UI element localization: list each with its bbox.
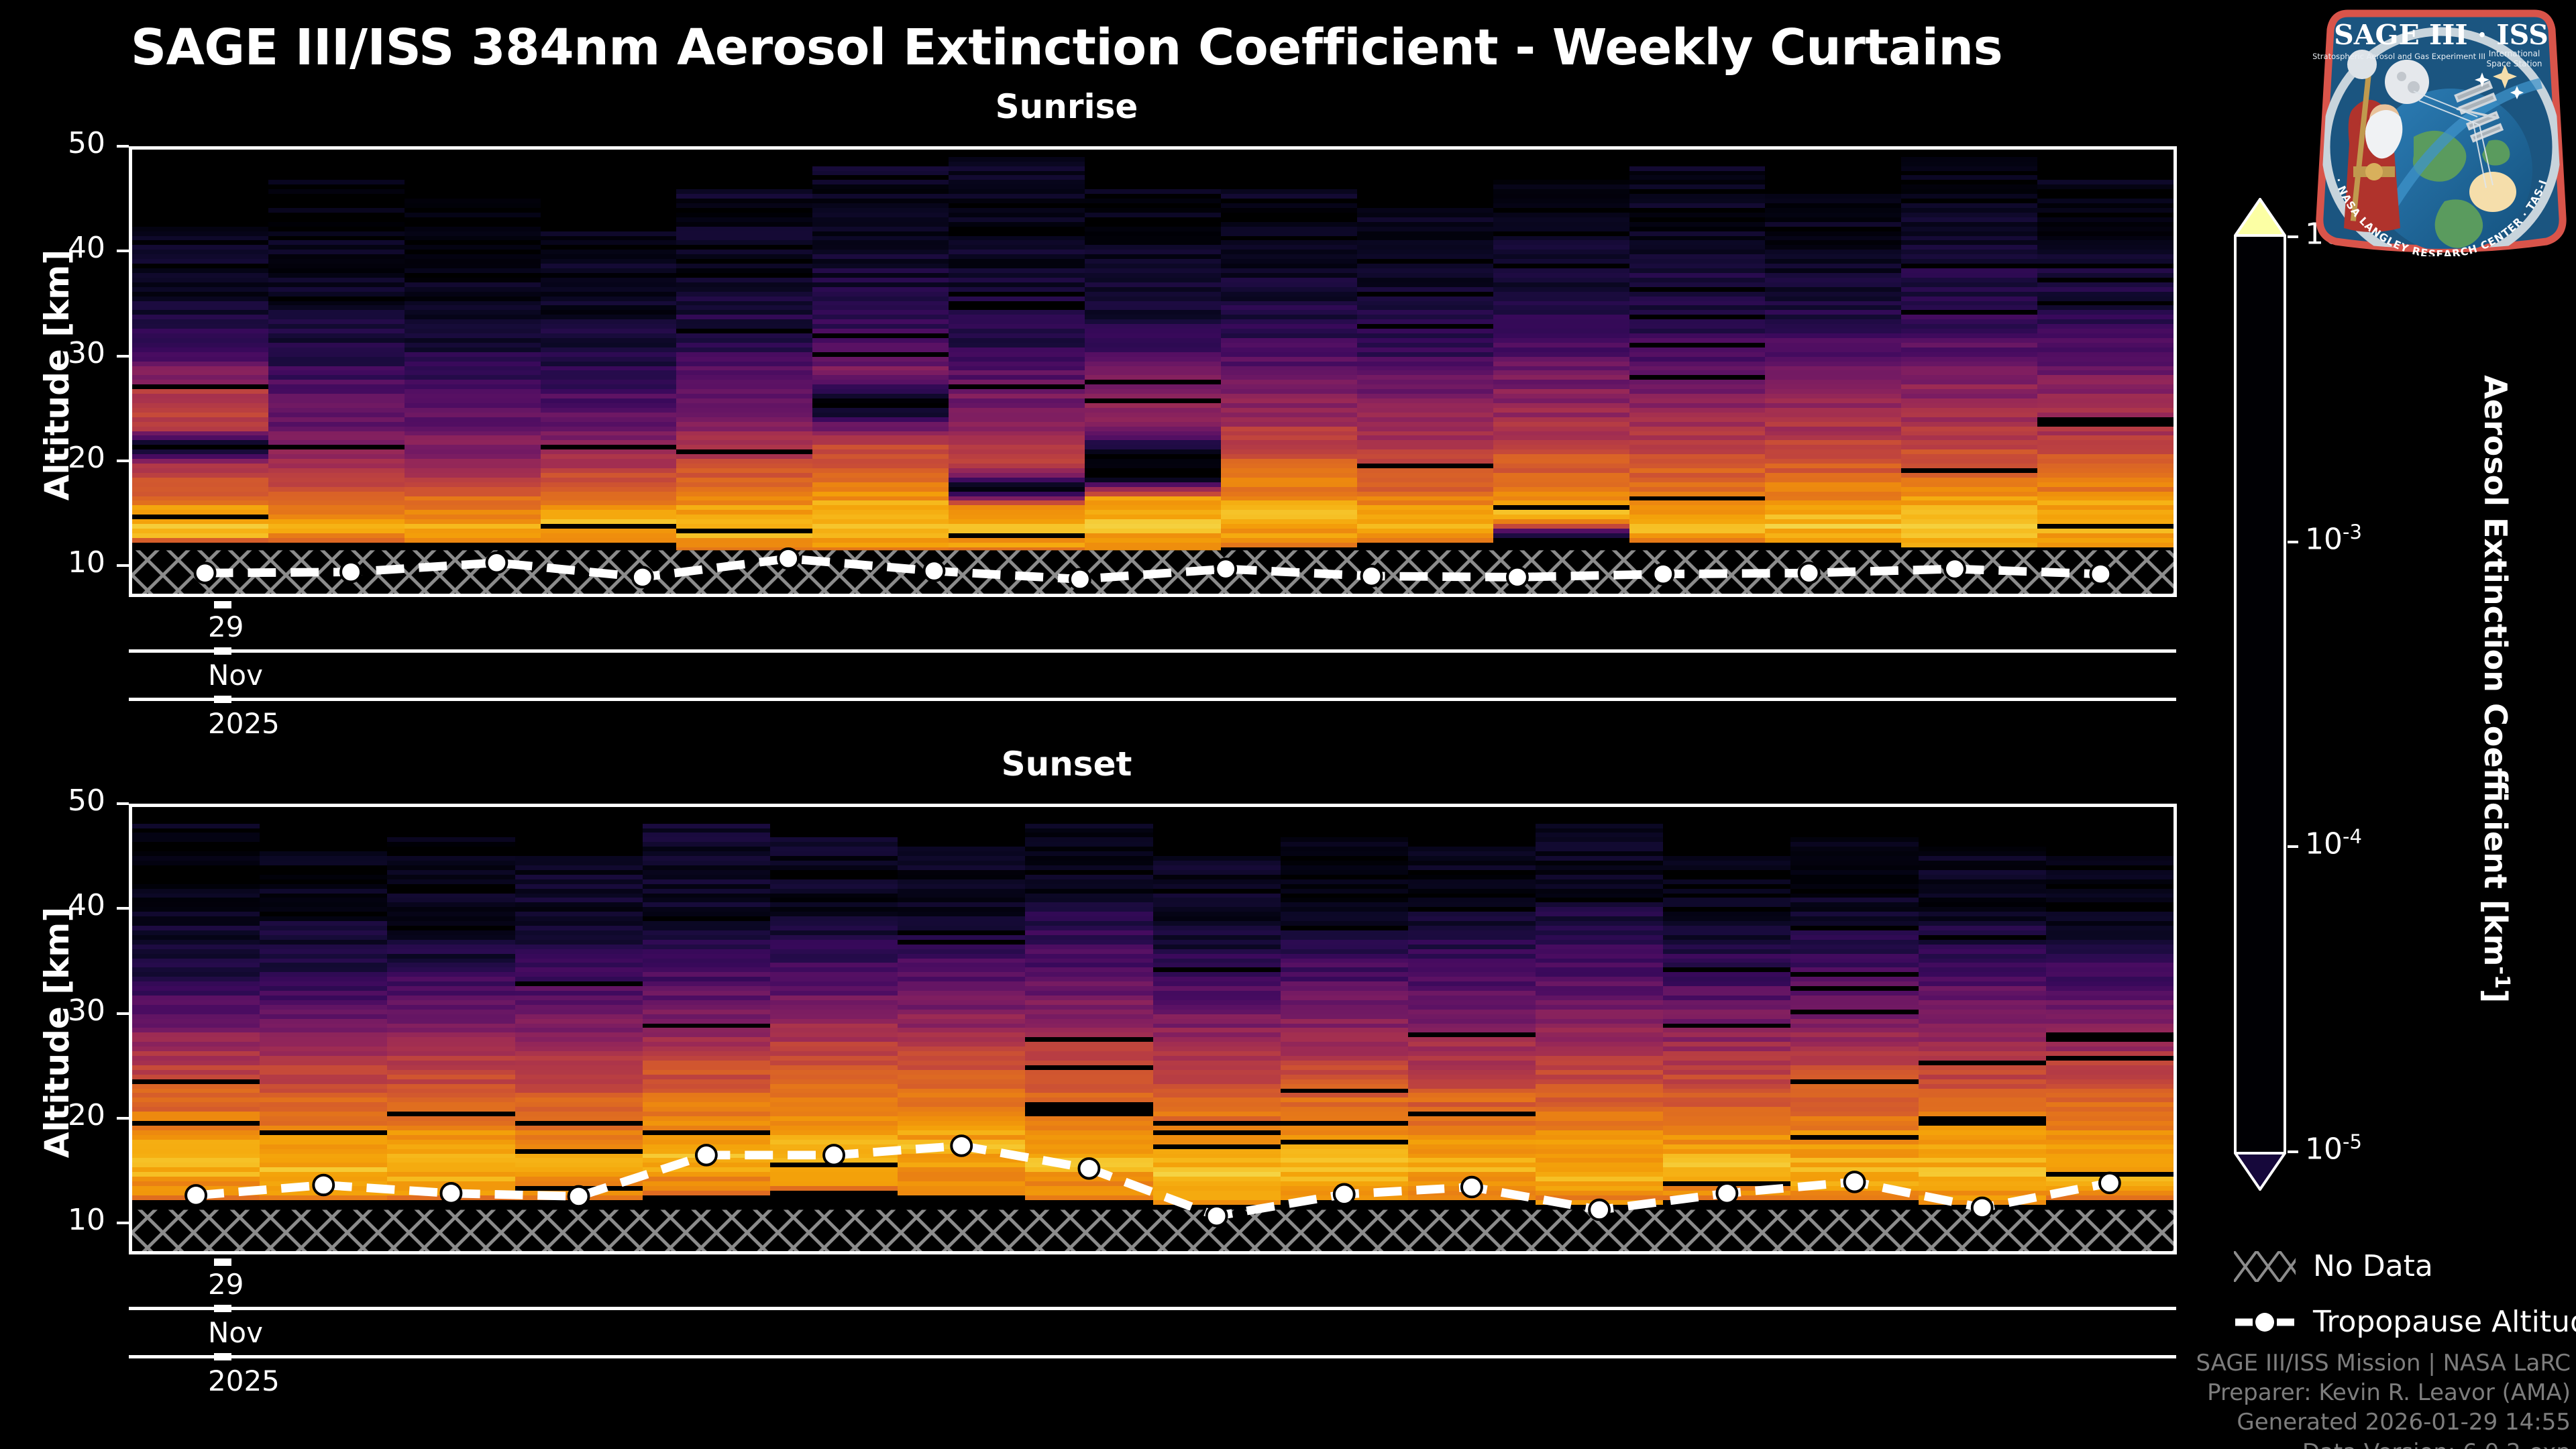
legend-item-no-data[interactable]: No Data — [2234, 1249, 2433, 1283]
tropopause-marker — [633, 568, 653, 588]
y-tick-label: 40 — [11, 888, 105, 922]
tropopause-marker — [1653, 564, 1673, 584]
date-axis-label-day: 29 — [208, 1268, 244, 1301]
footer-line-preparer: Preparer: Kevin R. Leavor (AMA) — [2196, 1378, 2571, 1407]
y-tick-mark — [117, 460, 129, 462]
date-axis-label-month: Nov — [208, 1316, 263, 1349]
tropopause-marker — [1799, 563, 1819, 583]
y-tick-mark — [117, 1012, 129, 1015]
colorbar[interactable] — [2234, 198, 2286, 1191]
y-tick-mark — [117, 1222, 129, 1224]
tropopause-marker — [341, 562, 361, 582]
tropopause-marker — [186, 1185, 206, 1205]
y-tick-label: 20 — [11, 1098, 105, 1132]
sunrise-tropopause-line — [132, 150, 2173, 594]
patch-subtitle-right-2: Space Station — [2486, 59, 2542, 68]
colorbar-extend-bottom — [2234, 1152, 2286, 1191]
panel-sunrise — [129, 146, 2177, 597]
y-tick-label: 10 — [11, 1203, 105, 1237]
sage-iii-iss-mission-patch-logo: SAGE III · ISS Stratospheric Aerosol and… — [2313, 3, 2569, 256]
date-axis-tick-month — [214, 647, 231, 655]
legend-item-tropopause[interactable]: Tropopause Altitude — [2234, 1305, 2576, 1339]
colorbar-title-tail: ] — [2477, 989, 2514, 1003]
colorbar-title: Aerosol Extinction Coefficient [km-1] — [2477, 320, 2514, 1058]
date-axis-label-day: 29 — [208, 610, 244, 643]
date-axis-label-year: 2025 — [208, 707, 280, 740]
tropopause-marker — [1507, 568, 1527, 588]
y-tick-mark — [117, 907, 129, 910]
patch-subtitle-right-1: International — [2489, 49, 2540, 58]
y-tick-mark — [117, 564, 129, 567]
date-axis-rule-month — [129, 1307, 2176, 1310]
tropopause-path — [196, 1146, 2110, 1216]
footer-line-mission: SAGE III/ISS Mission | NASA LaRC — [2196, 1348, 2571, 1378]
tropopause-marker — [1362, 566, 1382, 586]
date-axis-tick-year — [214, 696, 231, 703]
sunrise-plot-frame[interactable] — [129, 146, 2177, 597]
colorbar-tick-label-2: 10-4 — [2305, 825, 2362, 861]
sunset-panel-title: Sunset — [0, 745, 2133, 784]
tropopause-marker — [1216, 559, 1236, 579]
tropopause-line-swatch — [2234, 1307, 2296, 1338]
date-axis-rule-month — [129, 649, 2176, 653]
date-axis-tick-month — [214, 1305, 231, 1312]
footer-line-generated: Generated 2026-01-29 14:55 — [2196, 1407, 2571, 1437]
tropopause-marker — [195, 563, 215, 583]
patch-title-text: SAGE III · ISS — [2334, 19, 2548, 51]
tropopause-marker — [313, 1175, 333, 1195]
legend-label-no-data: No Data — [2313, 1249, 2433, 1283]
date-axis-tick-year — [214, 1353, 231, 1360]
y-tick-mark — [117, 355, 129, 358]
y-tick-mark — [117, 250, 129, 252]
tropopause-marker — [824, 1145, 844, 1165]
no-data-hatch-swatch — [2234, 1251, 2296, 1282]
y-tick-mark — [117, 1117, 129, 1120]
y-tick-label: 50 — [11, 784, 105, 818]
sunrise-panel-title: Sunrise — [0, 87, 2133, 126]
date-axis-rule-year — [129, 1355, 2176, 1358]
page-title: SAGE III/ISS 384nm Aerosol Extinction Co… — [0, 19, 2133, 76]
colorbar-title-exponent: -1 — [2490, 966, 2514, 989]
y-tick-label: 50 — [11, 126, 105, 160]
colorbar-tick-mark-1 — [2288, 541, 2298, 543]
date-axis-label-month: Nov — [208, 659, 263, 692]
y-tick-mark — [117, 802, 129, 805]
colorbar-title-text: Aerosol Extinction Coefficient [km — [2477, 375, 2514, 966]
tropopause-marker — [696, 1145, 716, 1165]
figure-root: SAGE III/ISS 384nm Aerosol Extinction Co… — [0, 0, 2576, 1449]
date-axis-tick-day — [214, 1258, 231, 1266]
date-axis-rule-year — [129, 698, 2176, 701]
tropopause-marker — [778, 549, 798, 569]
tropopause-marker — [2090, 564, 2110, 584]
y-tick-label: 30 — [11, 336, 105, 370]
colorbar-tick-label-1: 10-3 — [2305, 521, 2362, 557]
date-axis-tick-day — [214, 601, 231, 608]
panel-sunset — [129, 804, 2177, 1254]
tropopause-marker — [441, 1183, 461, 1203]
footer-credits: SAGE III/ISS Mission | NASA LaRC Prepare… — [2196, 1348, 2571, 1449]
colorbar-tick-mark-0 — [2288, 235, 2298, 238]
y-tick-mark — [117, 145, 129, 148]
y-tick-label: 30 — [11, 994, 105, 1028]
footer-line-version: Data Version: 6.0.2-exp — [2196, 1438, 2571, 1449]
colorbar-gradient — [2234, 237, 2286, 1152]
colorbar-extend-top — [2234, 198, 2286, 237]
colorbar-tick-mark-3 — [2288, 1150, 2298, 1153]
sunset-tropopause-line — [132, 807, 2173, 1251]
date-axis-label-year: 2025 — [208, 1364, 280, 1397]
tropopause-marker — [1070, 570, 1090, 590]
tropopause-marker — [951, 1136, 971, 1156]
colorbar-tick-mark-2 — [2288, 845, 2298, 848]
patch-subtitle-left: Stratospheric Aerosol and Gas Experiment… — [2313, 52, 2485, 61]
tropopause-marker — [924, 561, 945, 581]
tropopause-marker — [1589, 1200, 1609, 1220]
tropopause-marker — [486, 553, 506, 573]
y-tick-label: 40 — [11, 231, 105, 265]
tropopause-marker — [1845, 1172, 1865, 1192]
colorbar-tick-label-3: 10-5 — [2305, 1130, 2362, 1167]
legend-label-tropopause: Tropopause Altitude — [2313, 1305, 2576, 1339]
y-tick-label: 10 — [11, 545, 105, 580]
tropopause-marker — [1207, 1206, 1227, 1226]
tropopause-marker — [1334, 1185, 1354, 1205]
tropopause-marker — [569, 1187, 589, 1207]
tropopause-marker — [1972, 1198, 1992, 1218]
y-tick-label: 20 — [11, 441, 105, 475]
tropopause-marker — [1079, 1159, 1099, 1179]
tropopause-marker — [1462, 1177, 1482, 1197]
tropopause-marker — [1945, 559, 1965, 579]
tropopause-marker — [2100, 1173, 2120, 1193]
tropopause-marker — [1717, 1183, 1737, 1203]
sunset-plot-frame[interactable] — [129, 804, 2177, 1254]
